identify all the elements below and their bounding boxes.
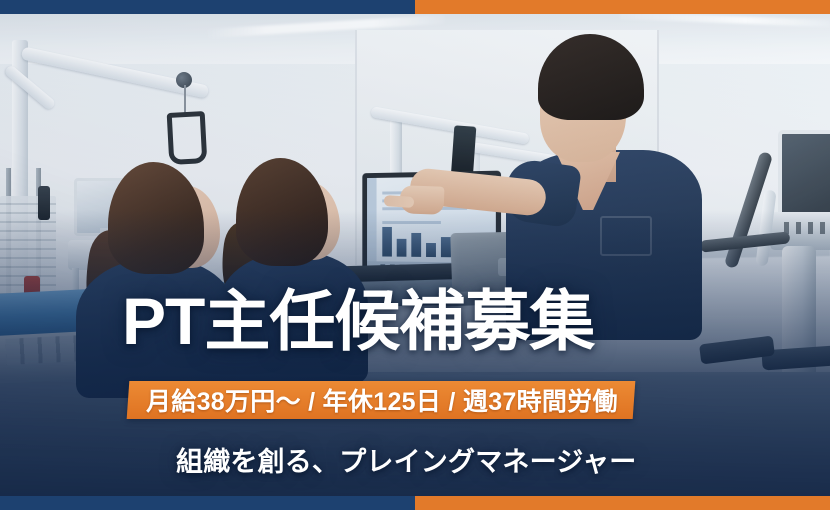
- top-brand-bar: [0, 0, 830, 14]
- bottom-brand-bar: [0, 496, 830, 510]
- bottom-bar-navy-segment: [0, 496, 415, 510]
- headline: PT主任候補募集: [122, 288, 594, 354]
- recruitment-banner: PT主任候補募集 月給38万円〜 / 年休125日 / 週37時間労働 組織を創…: [0, 0, 830, 510]
- conditions-pill-text: 月給38万円〜 / 年休125日 / 週37時間労働: [146, 382, 618, 418]
- top-bar-orange-segment: [415, 0, 830, 14]
- conditions-pill: 月給38万円〜 / 年休125日 / 週37時間労働: [127, 381, 635, 419]
- background-photo: [0, 0, 830, 510]
- top-bar-navy-segment: [0, 0, 415, 14]
- subline: 組織を創る、プレイングマネージャー: [176, 440, 637, 479]
- bottom-bar-orange-segment: [415, 496, 830, 510]
